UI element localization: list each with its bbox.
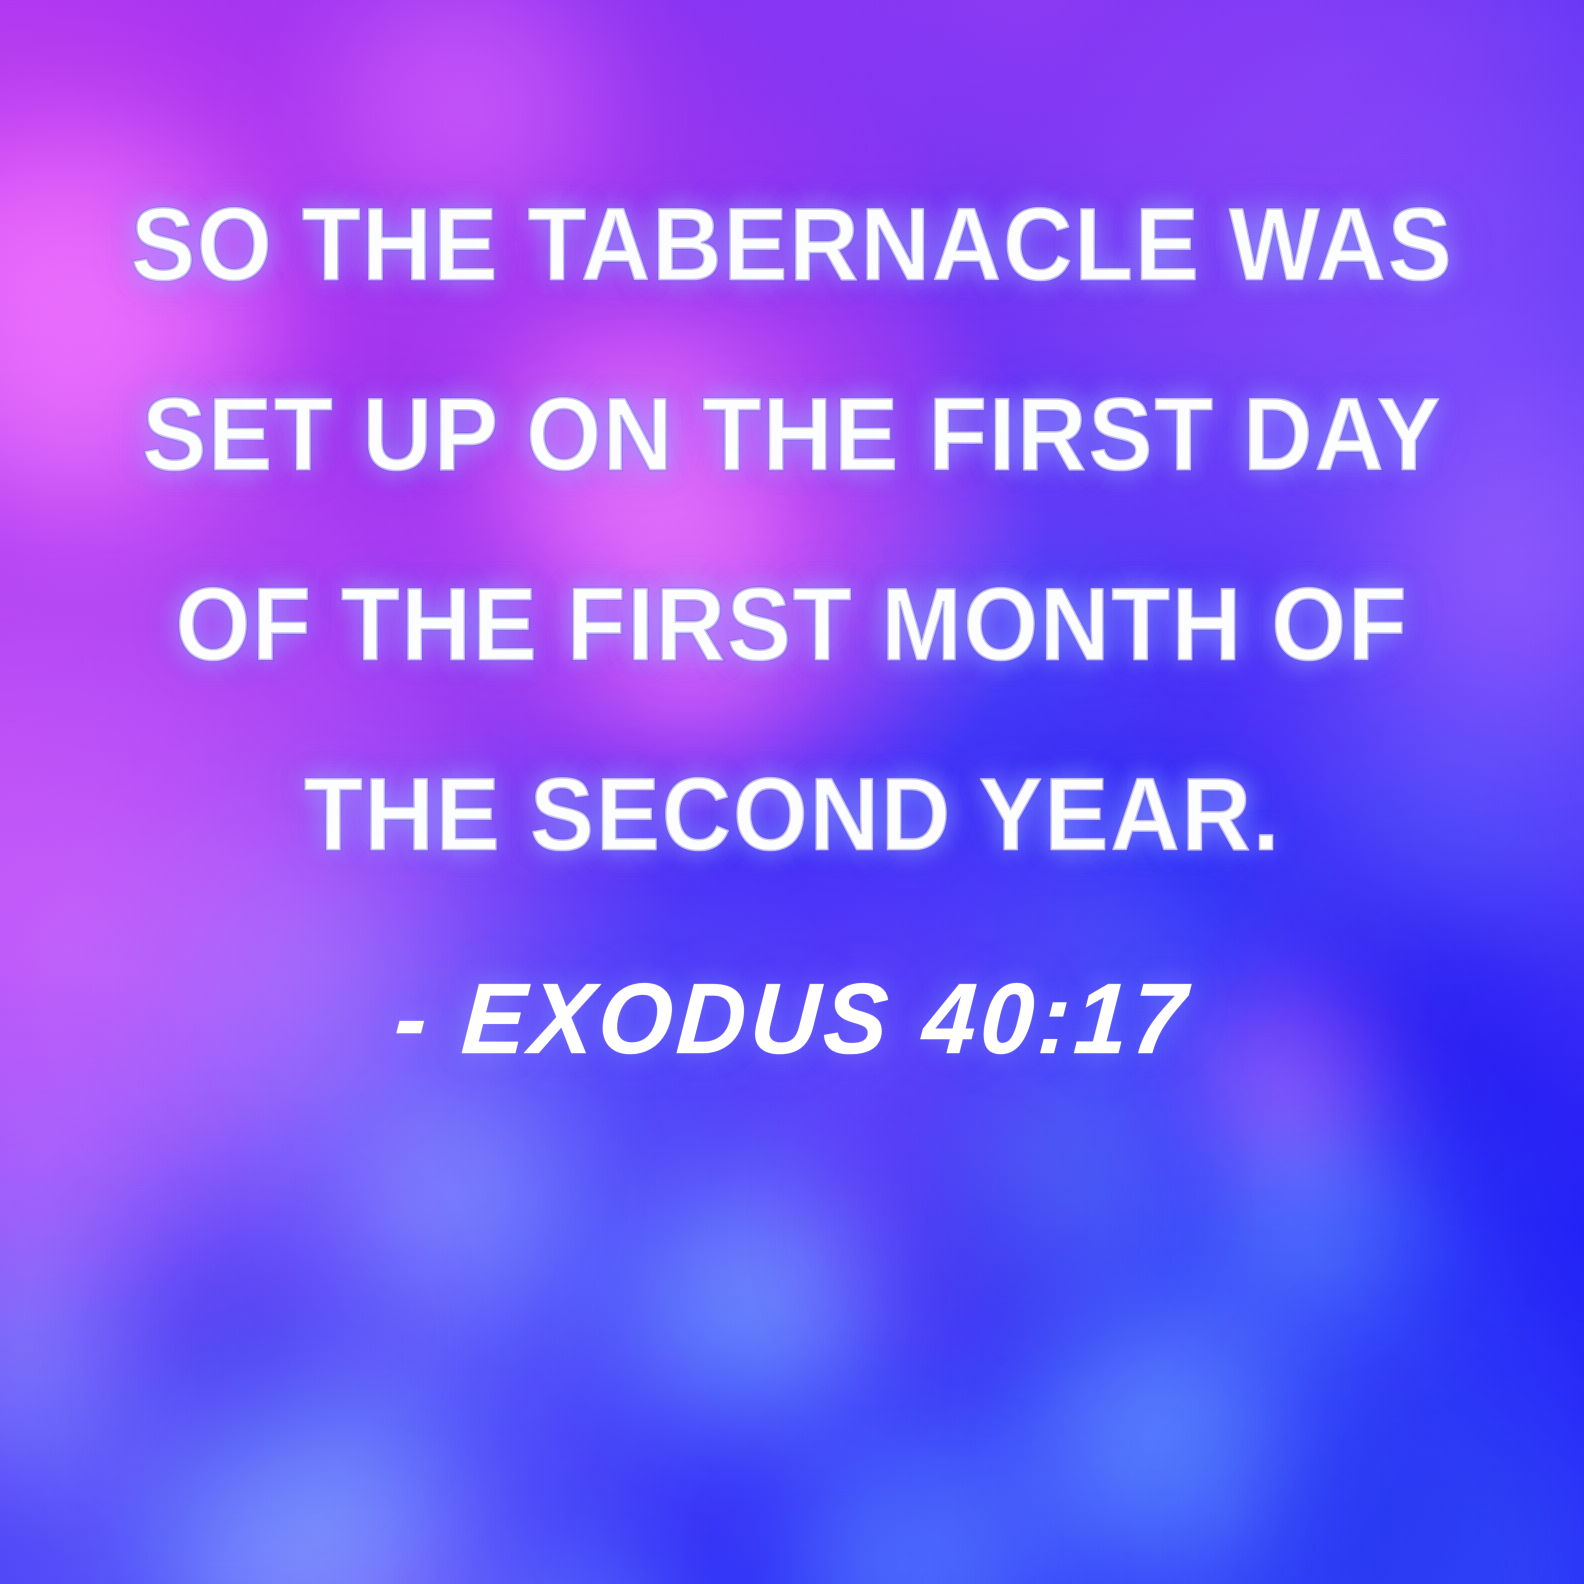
verse-image-canvas: SO THE TABERNACLE WAS SET UP ON THE FIRS… bbox=[0, 0, 1584, 1584]
verse-line-wrap: SET UP ON THE FIRST DAY bbox=[93, 340, 1491, 530]
verse-text-block: SO THE TABERNACLE WAS SET UP ON THE FIRS… bbox=[0, 0, 1584, 1584]
verse-line-wrap: OF THE FIRST MONTH OF bbox=[129, 530, 1455, 720]
verse-line-wrap: THE SECOND YEAR. bbox=[267, 720, 1318, 910]
verse-line-4: THE SECOND YEAR. bbox=[303, 720, 1280, 910]
verse-attribution: - EXODUS 40:17 bbox=[391, 962, 1194, 1077]
verse-line-wrap: SO THE TABERNACLE WAS bbox=[81, 150, 1503, 340]
verse-line-1: SO THE TABERNACLE WAS bbox=[131, 150, 1454, 340]
verse-line-3: OF THE FIRST MONTH OF bbox=[176, 530, 1409, 720]
verse-line-2: SET UP ON THE FIRST DAY bbox=[142, 340, 1442, 530]
